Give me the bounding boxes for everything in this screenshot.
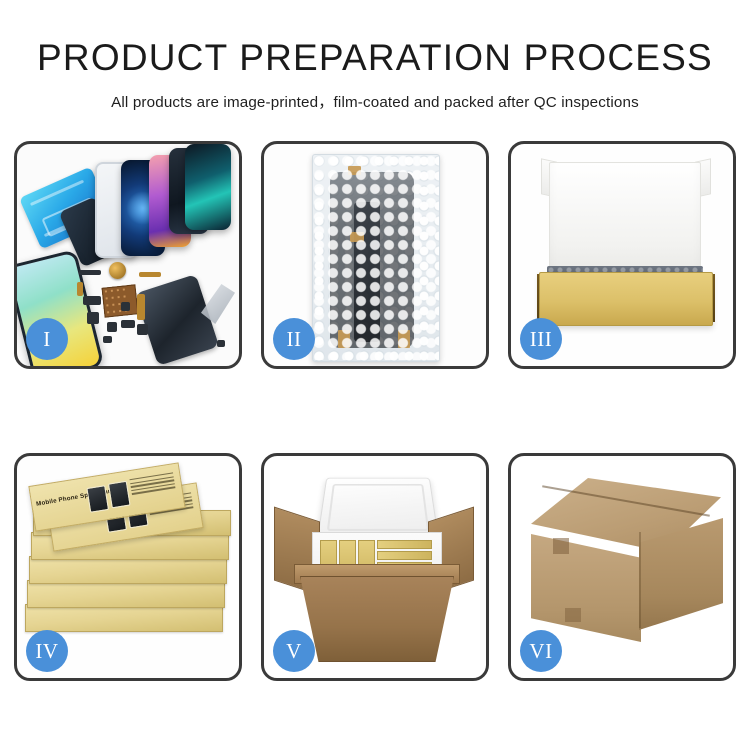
kraft-box-tray — [539, 272, 713, 326]
label-spec-lines — [130, 472, 176, 497]
process-step-panel-6[interactable]: VI — [508, 453, 736, 681]
page-header: PRODUCT PREPARATION PROCESS All products… — [0, 0, 750, 112]
component-chip — [79, 270, 101, 275]
component-chip — [107, 322, 117, 332]
process-step-panel-3[interactable]: III — [508, 141, 736, 369]
stacked-box — [29, 556, 227, 584]
stacked-box — [27, 580, 225, 608]
carton-left-face — [531, 534, 641, 642]
step-badge-6: VI — [520, 630, 562, 672]
phone-screen-teal-graphic — [185, 144, 231, 230]
speaker-component-graphic — [109, 262, 126, 279]
carton-vertical-edge — [639, 532, 641, 628]
flex-cable-graphic — [137, 294, 145, 320]
component-chip — [121, 320, 135, 328]
carton-tape-upper — [553, 538, 569, 554]
flex-cable-graphic — [139, 272, 161, 277]
page-subtitle: All products are image-printed，film-coat… — [0, 90, 750, 112]
tape-piece — [398, 330, 410, 348]
component-chip — [103, 336, 112, 343]
phone-backplate-graphic — [135, 274, 219, 366]
step-badge-2: II — [273, 318, 315, 360]
process-step-grid: I II III — [14, 141, 736, 681]
process-step-panel-4[interactable]: Mobile Phone Spare Parts Mobile Phone Sp… — [14, 453, 242, 681]
stacked-box — [25, 604, 223, 632]
component-chip — [121, 302, 130, 311]
component-chip — [137, 324, 148, 335]
page-title: PRODUCT PREPARATION PROCESS — [0, 38, 750, 79]
step-badge-4: IV — [26, 630, 68, 672]
tape-piece — [338, 330, 350, 348]
label-phone-image — [86, 485, 109, 513]
circuit-board-graphic — [102, 284, 139, 317]
component-chip — [87, 312, 99, 324]
box-lid-panel — [549, 162, 701, 282]
foam-lid — [317, 478, 439, 540]
step-badge-3: III — [520, 318, 562, 360]
component-chip — [217, 340, 225, 347]
component-chip — [83, 296, 101, 305]
process-step-panel-1[interactable]: I — [14, 141, 242, 369]
flex-cable-graphic — [77, 282, 83, 296]
carton-tape-lower — [565, 608, 581, 622]
carton-body — [300, 576, 454, 662]
tape-piece — [350, 232, 364, 242]
tape-piece — [348, 166, 361, 175]
step-badge-1: I — [26, 318, 68, 360]
flex-cable-strip — [354, 202, 380, 342]
step-badge-5: V — [273, 630, 315, 672]
label-phone-image — [108, 481, 131, 509]
process-step-panel-5[interactable]: V — [261, 453, 489, 681]
process-step-panel-2[interactable]: II — [261, 141, 489, 369]
